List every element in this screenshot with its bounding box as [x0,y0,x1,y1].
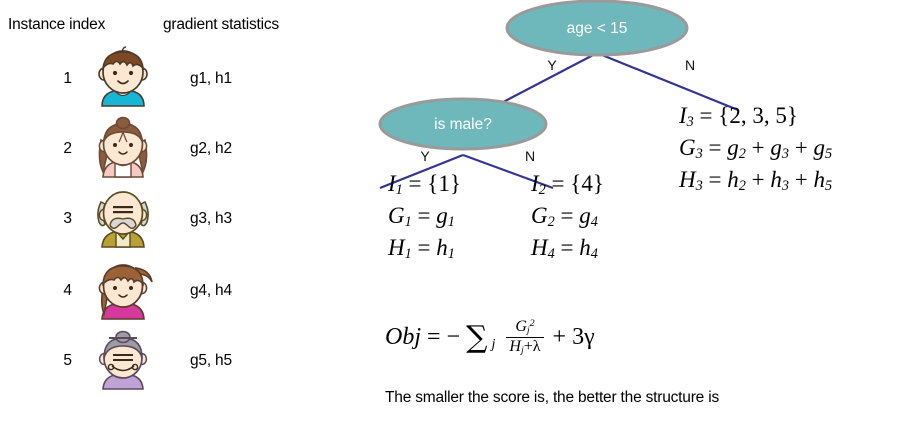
objective-tail: 3γ [572,324,595,351]
avatar-old-man-mustache [88,186,158,252]
edge-label-child-yes: Y [420,148,430,164]
row-gradient-stats: g1, h1 [190,70,232,88]
table-row: 1 g1, h1 [0,44,340,114]
leaf-stats-block-1: I1 = {1} G1 = g1 H1 = h1 [388,168,461,264]
leaf-line-I3: I3 = {2, 3, 5} [679,100,832,132]
edge-label-child-no: N [525,148,535,164]
row-index-label: 3 [36,210,72,228]
table-row: 3 g3, h3 [0,184,340,254]
objective-fraction: Gj2 Hj+λ [506,318,543,357]
row-index-label: 5 [36,352,72,370]
leaf-stats-block-2: I2 = {4} G2 = g4 H4 = h4 [531,168,604,264]
table-row: 4 g4, h4 [0,256,340,326]
leaf-stats-block-3: I3 = {2, 3, 5} G3 = g2 + g3 + g5 H3 = h2… [679,100,832,196]
avatar-girl-ponytail [88,258,158,324]
row-gradient-stats: g2, h2 [190,140,232,158]
leaf-line-G2: G2 = g4 [531,200,604,232]
tree-node-is-male-label: is male? [434,116,492,133]
leaf-line-I2: I2 = {4} [531,168,604,200]
avatar-boy-brown-hair [88,46,158,112]
avatar-girl-long-hair [88,116,158,182]
objective-minus: − [447,324,461,351]
row-index-label: 2 [36,140,72,158]
row-gradient-stats: g5, h5 [190,352,232,370]
summation-index: j [492,337,496,353]
objective-lhs: Obj [385,324,421,351]
leaf-line-G1: G1 = g1 [388,200,461,232]
row-index-label: 4 [36,282,72,300]
table-row: 2 g2, h2 [0,114,340,184]
objective-formula: Obj = − ∑j Gj2 Hj+λ + 3γ [385,318,595,357]
fraction-numerator: Gj2 [512,318,537,337]
edge-label-root-no: N [685,57,695,73]
row-index-label: 1 [36,70,72,88]
column-header-instance-index: Instance index [8,16,105,34]
fraction-denominator: Hj+λ [506,337,543,357]
avatar-old-woman-bun [88,328,158,394]
table-row: 5 g5, h5 [0,326,340,396]
tree-node-root-label: age < 15 [567,20,628,37]
caption: The smaller the score is, the better the… [385,389,719,407]
column-header-gradient-statistics: gradient statistics [163,16,279,34]
instance-table-panel: Instance index gradient statistics 1 g1,… [0,0,340,421]
row-gradient-stats: g3, h3 [190,210,232,228]
objective-equals: = [427,324,441,351]
leaf-line-H4: H4 = h4 [531,232,604,264]
leaf-line-H1: H1 = h1 [388,232,461,264]
leaf-line-G3: G3 = g2 + g3 + g5 [679,132,832,164]
leaf-line-I1: I1 = {1} [388,168,461,200]
decision-tree-panel: age < 15 is male? Y N Y N I1 = {1} G1 = … [340,0,920,421]
edge-label-root-yes: Y [547,57,557,73]
objective-plus: + [553,324,567,351]
leaf-line-H3: H3 = h2 + h3 + h5 [679,164,832,196]
summation-symbol: ∑ [466,323,487,353]
row-gradient-stats: g4, h4 [190,282,232,300]
